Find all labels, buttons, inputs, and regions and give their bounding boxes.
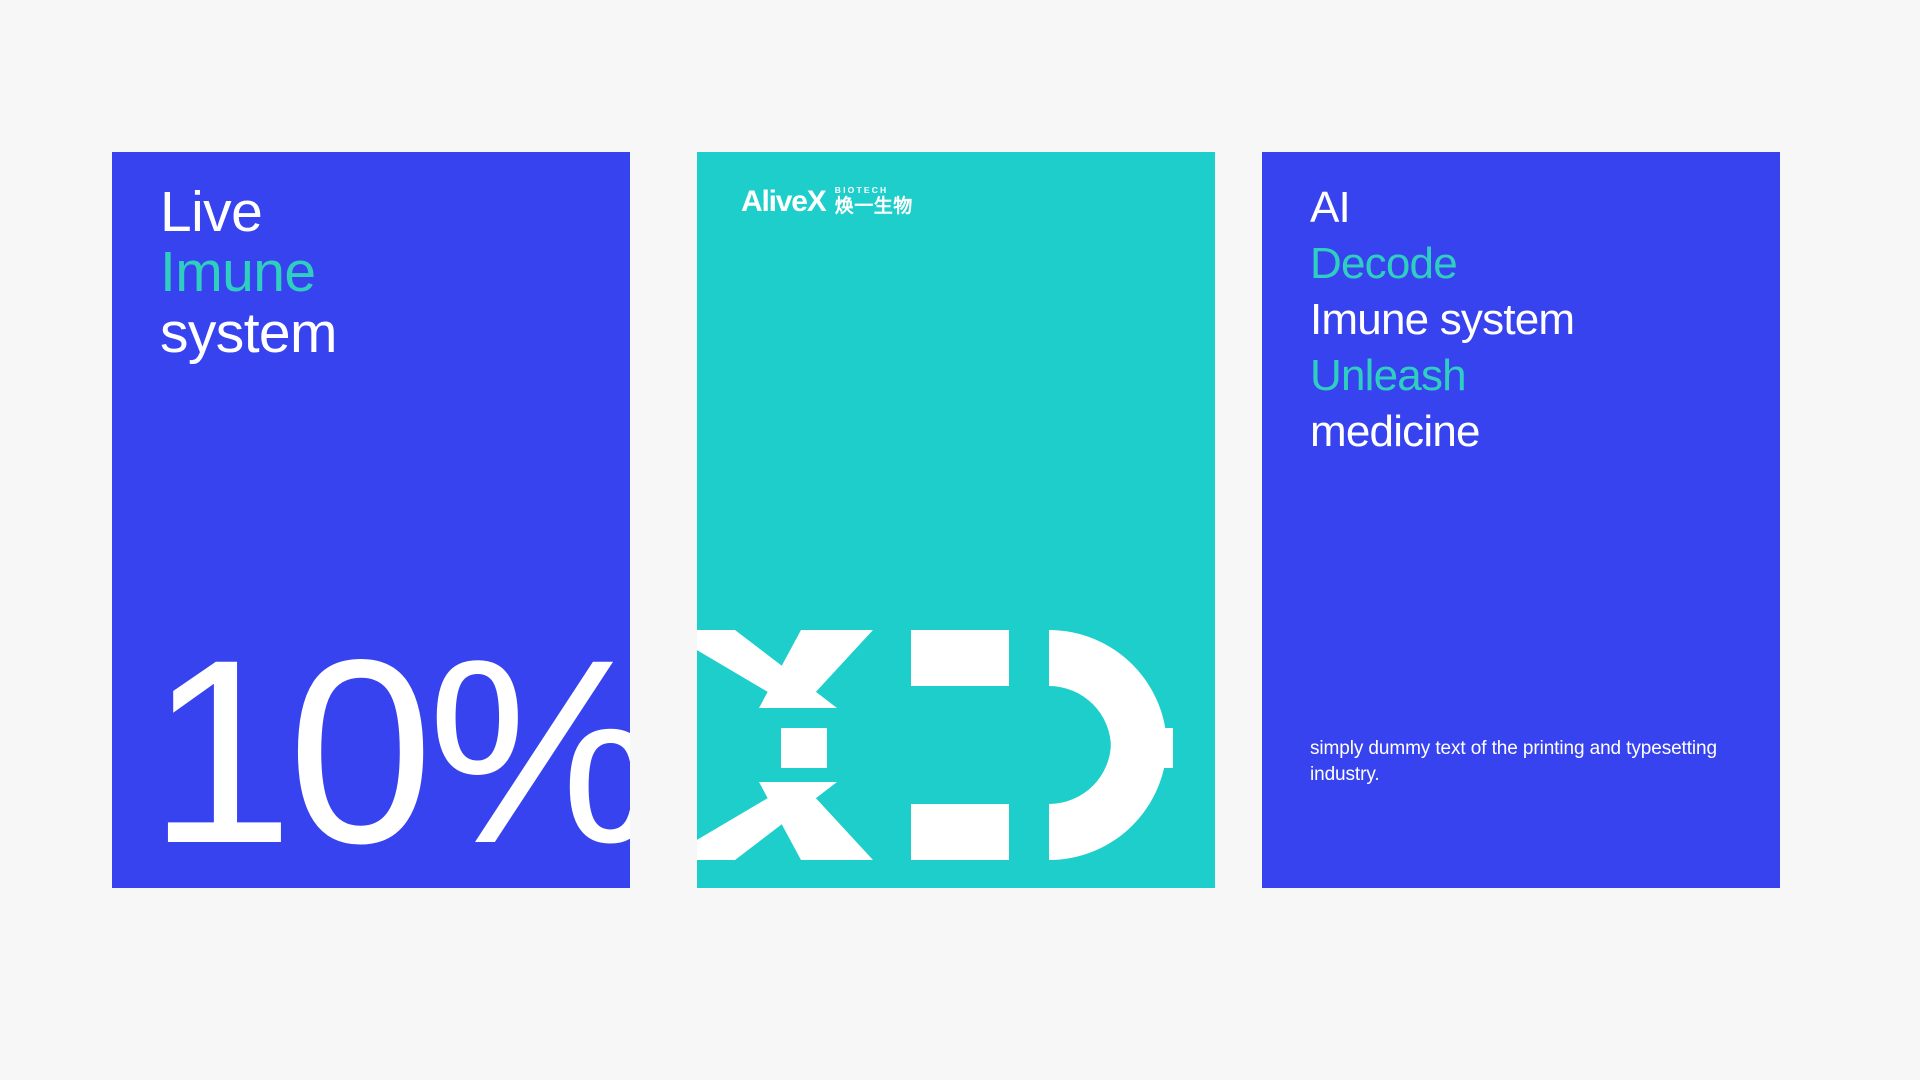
poster-live-imune-system[interactable]: Live Imune system 10% [112, 152, 630, 888]
poster-ai-body-copy: simply dummy text of the printing and ty… [1310, 736, 1762, 788]
poster-ai-decode-medicine[interactable]: AI Decode Imune system Unleash medicine … [1262, 152, 1780, 888]
poster-live-headline: Live Imune system [160, 182, 337, 363]
statistic-ten-percent: 10% [148, 639, 630, 864]
headline-line-system: system [160, 303, 337, 363]
poster-series-canvas: Live Imune system 10% Alive X BIOTECH 焕一… [0, 0, 1920, 1080]
alivex-logo[interactable]: Alive X BIOTECH 焕一生物 [741, 186, 913, 217]
logo-secondary-block: BIOTECH 焕一生物 [835, 186, 913, 217]
logo-biotech-label: BIOTECH [835, 186, 913, 195]
logo-hanzi-label: 焕一生物 [835, 197, 913, 216]
headline-line-decode: Decode [1310, 236, 1574, 292]
poster-alivex-brandmark[interactable]: Alive X BIOTECH 焕一生物 [697, 152, 1215, 888]
headline-line-unleash: Unleash [1310, 348, 1574, 404]
headline-line-ai: AI [1310, 180, 1574, 236]
headline-line-imune-system: Imune system [1310, 292, 1574, 348]
poster-ai-headline: AI Decode Imune system Unleash medicine [1310, 180, 1574, 459]
headline-line-imune: Imune [160, 242, 337, 302]
xd-monogram-icon [697, 630, 1215, 860]
headline-line-live: Live [160, 182, 337, 242]
logo-wordmark-x: X [807, 187, 826, 217]
logo-wordmark-alive: Alive [741, 187, 807, 217]
headline-line-medicine: medicine [1310, 404, 1574, 460]
logo-wordmark: Alive X [741, 187, 826, 217]
